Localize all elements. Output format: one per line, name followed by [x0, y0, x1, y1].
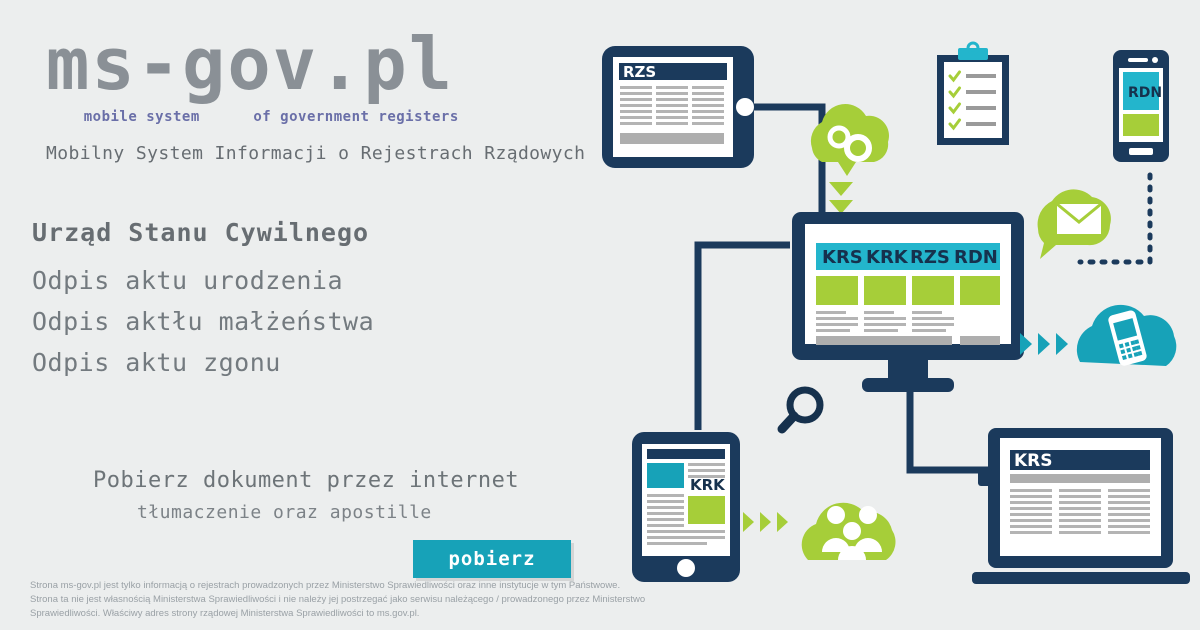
- monitor-tab-krk: KRK: [866, 247, 909, 268]
- monitor-tab-rdn: RDN: [954, 247, 998, 268]
- tablet-landscape-label: RZS: [623, 63, 656, 81]
- envelope-bubble-icon: [1038, 189, 1111, 259]
- brand-tagline: Mobilny System Informacji o Rejestrach R…: [46, 143, 585, 164]
- brand-subtitle-right: registers: [378, 109, 458, 125]
- magnifier-icon: [782, 390, 820, 429]
- laptop-label: KRS: [1014, 451, 1053, 471]
- laptop-krs: KRS: [972, 428, 1190, 584]
- green-arrows: [743, 512, 788, 532]
- brand-subtitle-left: mobile system: [84, 109, 200, 125]
- tablet-portrait-krk: KRK: [632, 432, 740, 582]
- brand-subtitle-mid: of government: [253, 109, 369, 125]
- download-button[interactable]: pobierz: [413, 540, 571, 578]
- teal-arrows: [1020, 333, 1068, 355]
- document-list: Odpis aktu urodzenia Odpis aktłu małżeńs…: [32, 260, 374, 383]
- tablet-landscape-rzs: RZS: [602, 46, 754, 168]
- list-item: Odpis aktu zgonu: [32, 342, 374, 383]
- tablet-portrait-label: KRK: [690, 476, 726, 494]
- brand-logo: ms-gov.pl: [46, 28, 454, 100]
- monitor-tab-rzs: RZS: [910, 247, 950, 268]
- phone-cloud-icon: [1077, 305, 1176, 367]
- monitor-tab-krs: KRS: [822, 247, 863, 268]
- users-cloud-icon: [802, 503, 896, 560]
- list-item: Odpis aktu urodzenia: [32, 260, 374, 301]
- cta-subline: tłumaczenie oraz apostille: [137, 502, 432, 523]
- download-arrows: [829, 182, 853, 214]
- desktop-monitor: KRS KRK RZS RDN: [792, 212, 1024, 392]
- list-item: Odpis aktłu małżeństwa: [32, 301, 374, 342]
- smartphone-label: RDN: [1128, 85, 1162, 101]
- poster-canvas: ms-gov.pl mobile system______of governme…: [0, 0, 1200, 630]
- checklist-clipboard-icon: [937, 43, 1009, 145]
- illustration: RZS: [580, 0, 1200, 630]
- smartphone-rdn: RDN: [1113, 50, 1169, 162]
- page-title: Urząd Stanu Cywilnego: [32, 218, 369, 247]
- brand-subtitle: mobile system______of government_registe…: [48, 93, 459, 141]
- cta-headline: Pobierz dokument przez internet: [93, 468, 519, 493]
